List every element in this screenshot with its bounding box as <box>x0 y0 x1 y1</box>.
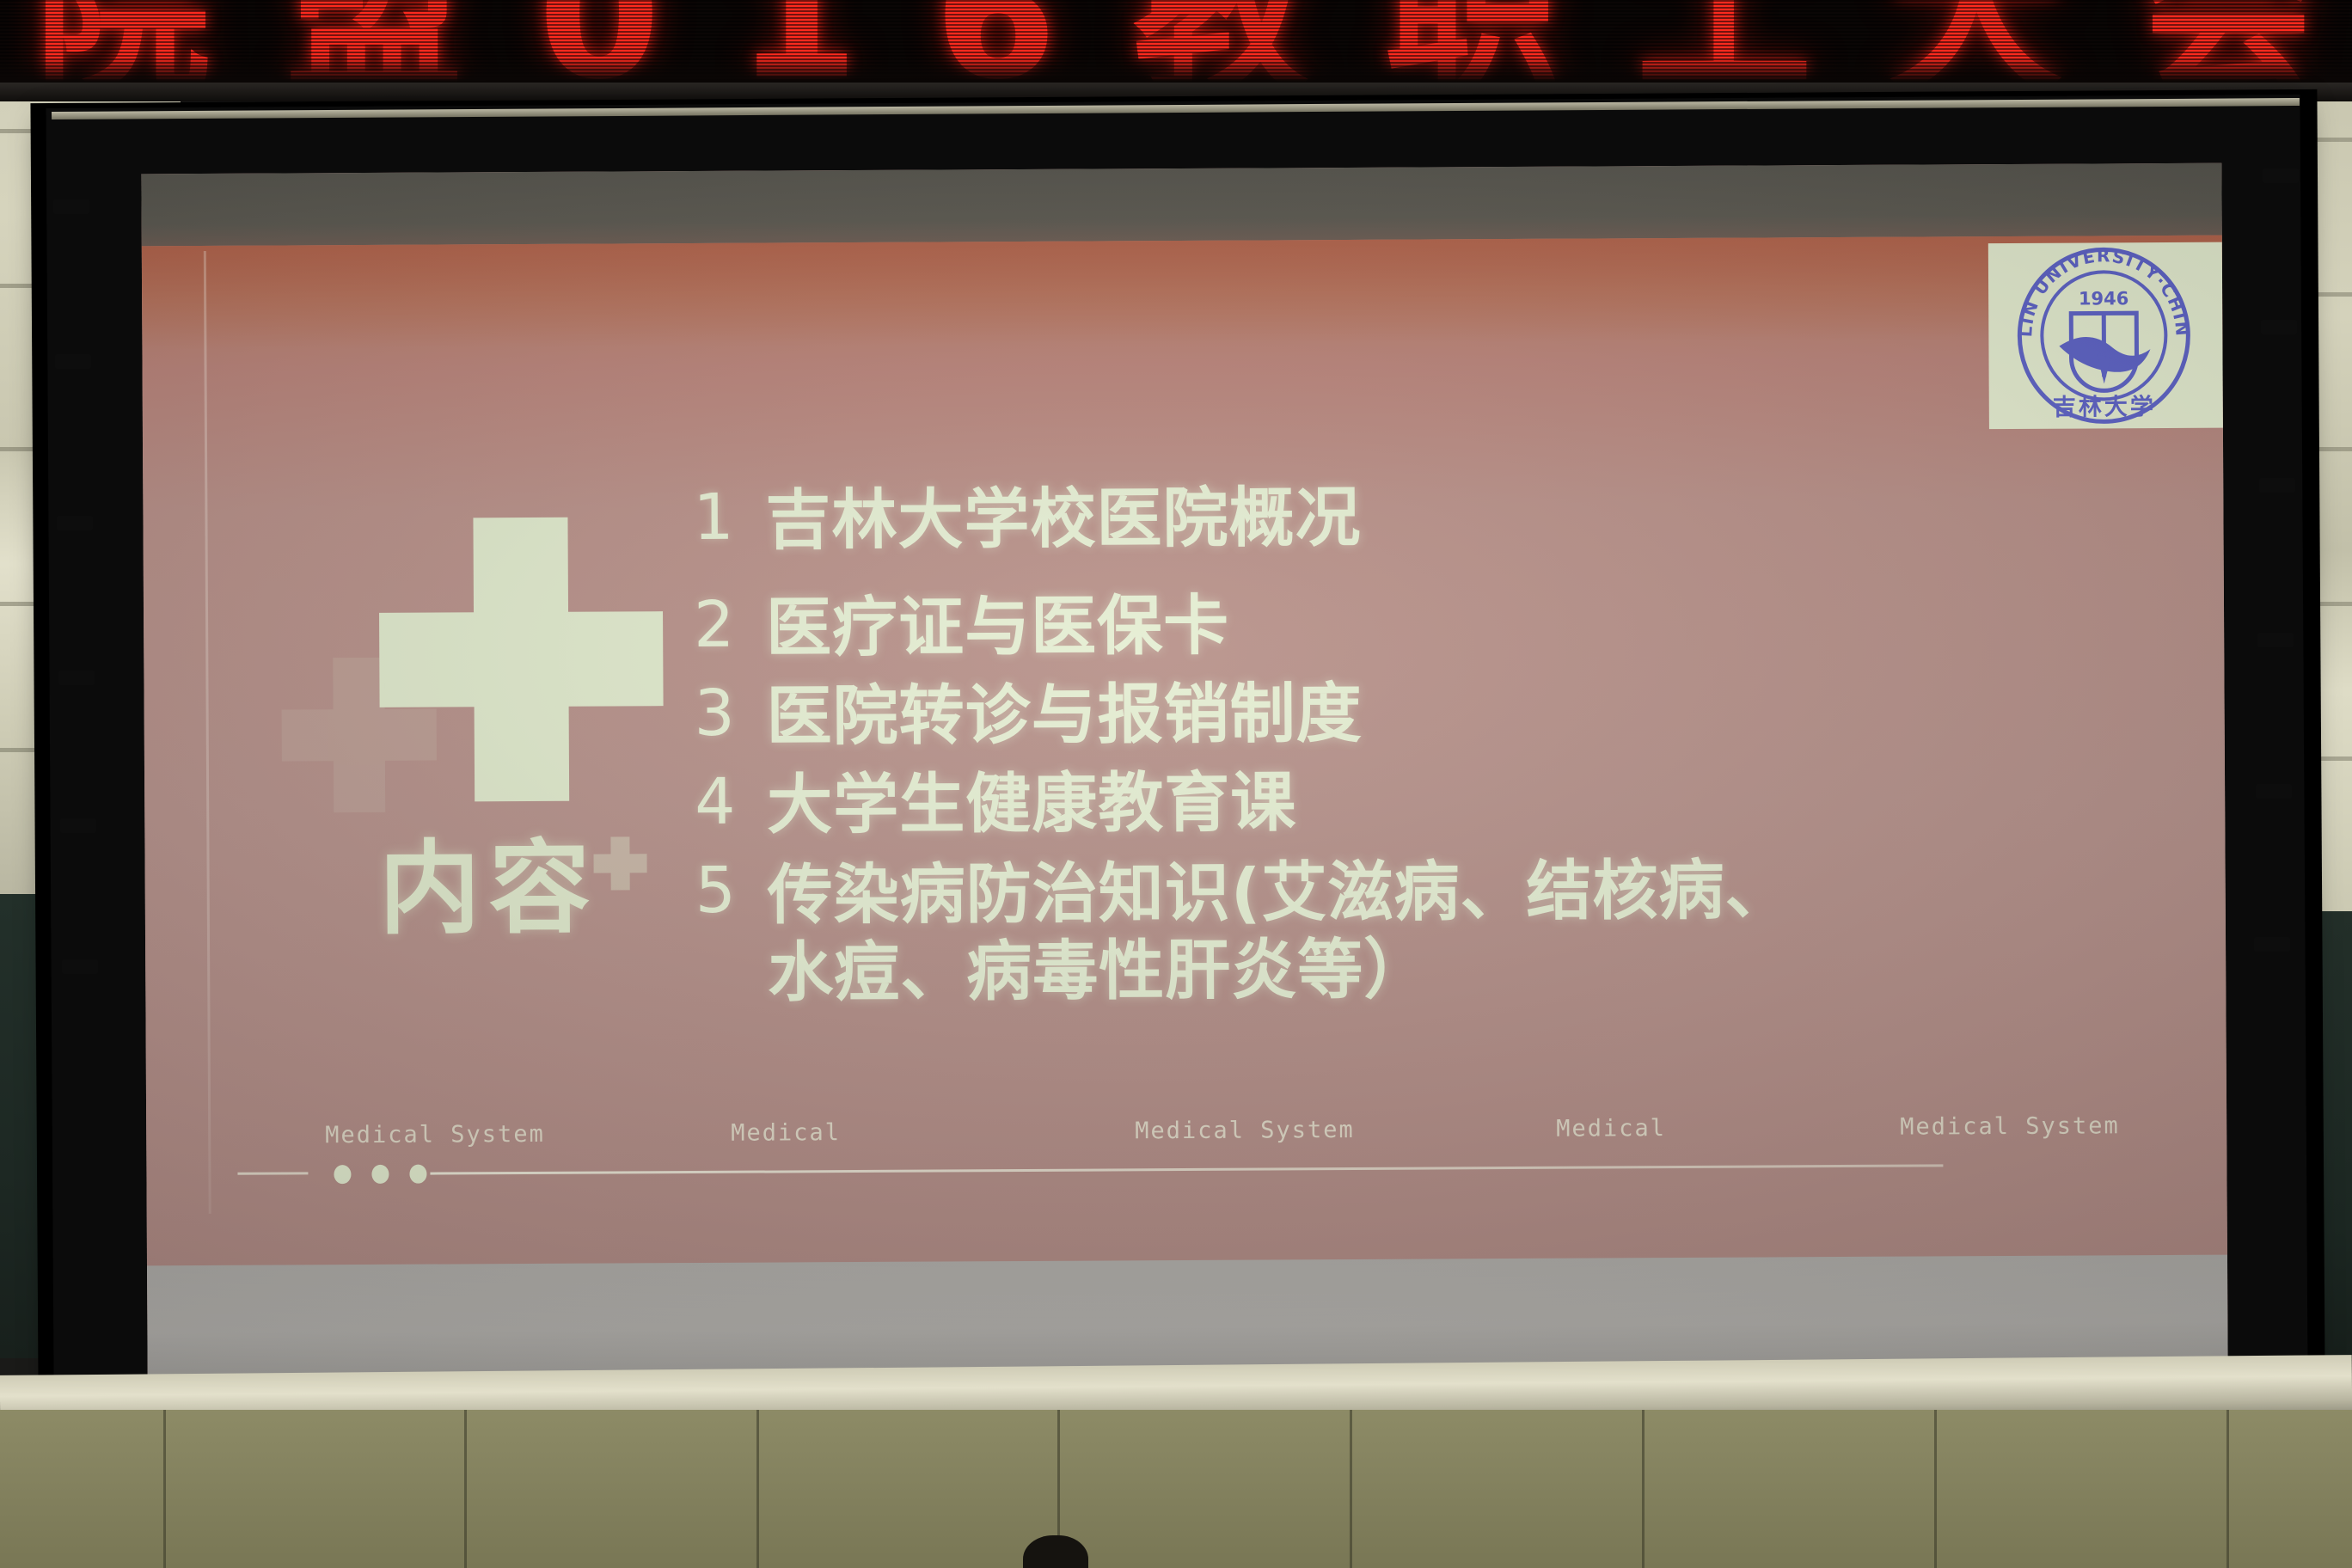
led-bottom-fade <box>0 57 2352 86</box>
agenda-text-block: 传染病防治知识(艾滋病、结核病、 水痘、病毒性肝炎等） <box>768 852 1792 1012</box>
footer-rule <box>430 1164 1943 1174</box>
screen-clip <box>57 516 93 530</box>
footer-label-row: Medical System Medical Medical System Me… <box>146 1112 2226 1158</box>
agenda-item: 2 医疗证与医保卡 <box>694 585 2035 665</box>
screen-clip <box>2257 633 2294 647</box>
screen-clip <box>2261 320 2297 334</box>
screen-clip <box>2254 937 2290 952</box>
medical-cross-ghost-icon <box>281 658 437 813</box>
agenda-text: 大学生健康教育课 <box>767 766 1296 842</box>
footer-label: Medical <box>1556 1115 1666 1142</box>
svg-text:1946: 1946 <box>2079 288 2129 309</box>
projected-slide-area: JILIN UNIVERSITY·CHINA 1946 吉林大学 <box>141 163 2227 1378</box>
screen-clip <box>2256 784 2292 799</box>
lecture-hall-scene: 院 盟 0 1 6 教 职 工 大 会 <box>0 0 2352 1568</box>
agenda-number: 4 <box>695 769 767 837</box>
agenda-text-line1: 传染病防治知识(艾滋病、结核病、 <box>768 852 1792 934</box>
agenda-list: 1 吉林大学校医院概况 2 医疗证与医保卡 3 医院转诊与报销制度 4 大学生健… <box>693 477 2037 1027</box>
footer-dot <box>371 1165 389 1184</box>
svg-text:吉林大学: 吉林大学 <box>2053 393 2156 421</box>
footer-dot <box>409 1165 426 1184</box>
agenda-item: 5 传染病防治知识(艾滋病、结核病、 水痘、病毒性肝炎等） <box>695 850 2037 1012</box>
agenda-number: 5 <box>695 857 768 926</box>
jilin-university-logo: JILIN UNIVERSITY·CHINA 1946 吉林大学 <box>1988 242 2223 429</box>
footer-dash <box>237 1172 308 1174</box>
slide-header-gradient <box>142 236 2223 350</box>
screen-clip <box>53 199 89 214</box>
slide-vertical-rule <box>204 251 211 1214</box>
screen-clip <box>2263 168 2299 183</box>
agenda-number: 3 <box>694 680 766 749</box>
powerpoint-slide: JILIN UNIVERSITY·CHINA 1946 吉林大学 <box>142 236 2227 1266</box>
footer-label: Medical System <box>325 1121 545 1148</box>
screen-clip <box>62 959 98 974</box>
footer-label: Medical <box>731 1119 841 1147</box>
footer-dot <box>334 1165 351 1184</box>
screen-clip <box>55 354 91 369</box>
lower-wall-panels <box>0 1410 2352 1568</box>
slide-heading: 内容 <box>378 836 689 940</box>
agenda-number: 2 <box>694 591 766 660</box>
agenda-text: 医疗证与医保卡 <box>766 589 1229 665</box>
slide-footer: Medical System Medical Medical System Me… <box>146 1112 2227 1218</box>
footer-label: Medical System <box>1135 1117 1355 1144</box>
agenda-item: 1 吉林大学校医院概况 <box>693 477 2034 557</box>
agenda-item: 4 大学生健康教育课 <box>695 762 2036 842</box>
led-marquee-sign: 院 盟 0 1 6 教 职 工 大 会 <box>0 0 2352 86</box>
agenda-text: 吉林大学校医院概况 <box>765 481 1361 557</box>
footer-label: Medical System <box>1900 1112 2120 1140</box>
agenda-text-line2: 水痘、病毒性肝炎等） <box>768 931 1430 1011</box>
screen-clip <box>58 671 95 685</box>
agenda-number: 1 <box>693 484 765 553</box>
agenda-item: 3 医院转诊与报销制度 <box>694 673 2035 753</box>
screen-clip <box>60 818 96 833</box>
agenda-text: 医院转诊与报销制度 <box>766 677 1362 753</box>
letterbox-top-band <box>141 163 2221 247</box>
screen-clip <box>2259 478 2295 493</box>
